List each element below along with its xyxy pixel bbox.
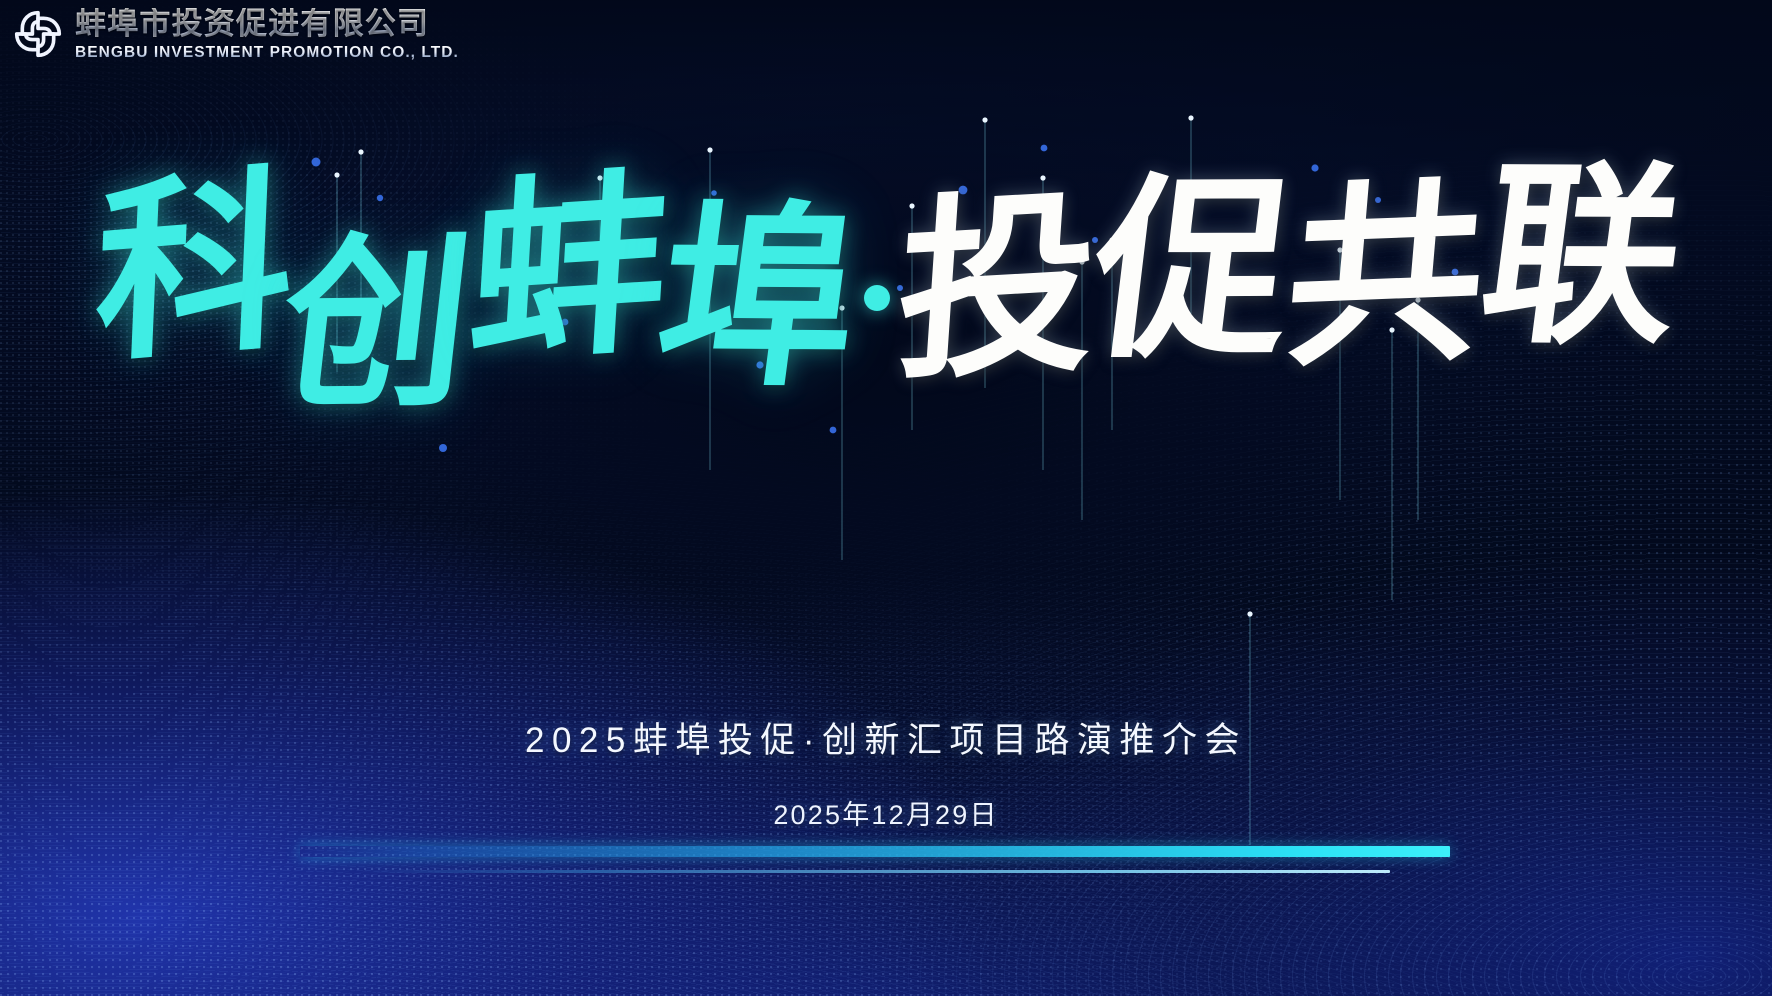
- headline-char-3: 蚌: [464, 166, 669, 374]
- headline-char-7: 共: [1279, 174, 1490, 377]
- company-name-en: BENGBU INVESTMENT PROMOTION CO., LTD.: [75, 45, 459, 61]
- glow-dot: [439, 444, 447, 452]
- promo-poster: 蚌埠市投资促进有限公司 BENGBU INVESTMENT PROMOTION …: [0, 0, 1772, 996]
- drop-line-tip-dot: [358, 149, 363, 154]
- headline-white-part: 投促共联: [889, 170, 1687, 382]
- drop-line-tip-dot: [1247, 611, 1252, 616]
- drop-line-tip-dot: [982, 117, 987, 122]
- headline-block: 科创蚌埠 投促共联: [0, 178, 1772, 374]
- headline-char-6: 促: [1083, 172, 1300, 369]
- divider-rule-thin: [360, 870, 1390, 873]
- drop-line-tip-dot: [707, 147, 712, 152]
- company-name-block: 蚌埠市投资促进有限公司 BENGBU INVESTMENT PROMOTION …: [75, 8, 459, 61]
- headline-char-8: 联: [1472, 157, 1691, 354]
- headline-cyan-part: 科创蚌埠: [85, 167, 864, 384]
- glow-dot: [830, 427, 837, 434]
- drop-line-tip-dot: [334, 172, 339, 177]
- headline-char-5: 投: [892, 185, 1100, 392]
- headline-char-2: 创: [273, 230, 476, 418]
- divider-rule-thick: [300, 846, 1450, 857]
- glow-dot: [1041, 145, 1048, 152]
- company-logo-block: 蚌埠市投资促进有限公司 BENGBU INVESTMENT PROMOTION …: [10, 6, 459, 62]
- headline-row: 科创蚌埠 投促共联: [10, 178, 1762, 374]
- company-name-cn: 蚌埠市投资促进有限公司: [75, 8, 459, 39]
- headline-char-1: 科: [92, 163, 294, 374]
- divider-rules: [0, 840, 1772, 880]
- pinwheel-logo-icon: [10, 6, 66, 62]
- event-date: 2025年12月29日: [0, 793, 1772, 832]
- drop-line-tip-dot: [1188, 115, 1193, 120]
- event-subtitle: 2025蚌埠投促·创新汇项目路演推介会: [0, 712, 1772, 763]
- headline-dot-separator: [864, 285, 890, 311]
- glow-dot: [312, 158, 321, 167]
- headline-char-4: 埠: [647, 199, 864, 396]
